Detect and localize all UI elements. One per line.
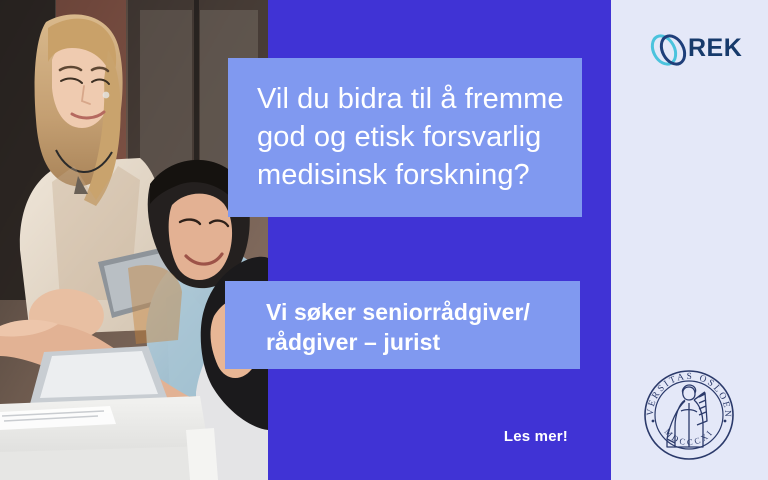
- job-title-line-2: rådgiver – jurist: [266, 327, 560, 357]
- uio-seal: UNIVERSITAS OSLOENSIS MDCCCXI: [637, 363, 741, 467]
- rek-logo: REK: [648, 26, 740, 74]
- uio-seal-icon: UNIVERSITAS OSLOENSIS MDCCCXI: [637, 363, 741, 467]
- headline-line-3: medisinsk forskning?: [257, 156, 556, 194]
- headline-line-2: god og etisk forsvarlig: [257, 118, 556, 156]
- headline-textbox: Vil du bidra til å fremme god og etisk f…: [228, 58, 582, 217]
- recruitment-banner: Vil du bidra til å fremme god og etisk f…: [0, 0, 768, 480]
- job-title-line-1: Vi søker seniorrådgiver/: [266, 297, 560, 327]
- rek-rings-icon: [648, 26, 692, 74]
- headline-line-1: Vil du bidra til å fremme: [257, 80, 556, 118]
- job-title-textbox: Vi søker seniorrådgiver/ rådgiver – juri…: [225, 281, 580, 369]
- read-more-link[interactable]: Les mer!: [380, 428, 568, 445]
- rek-wordmark: REK: [688, 34, 742, 63]
